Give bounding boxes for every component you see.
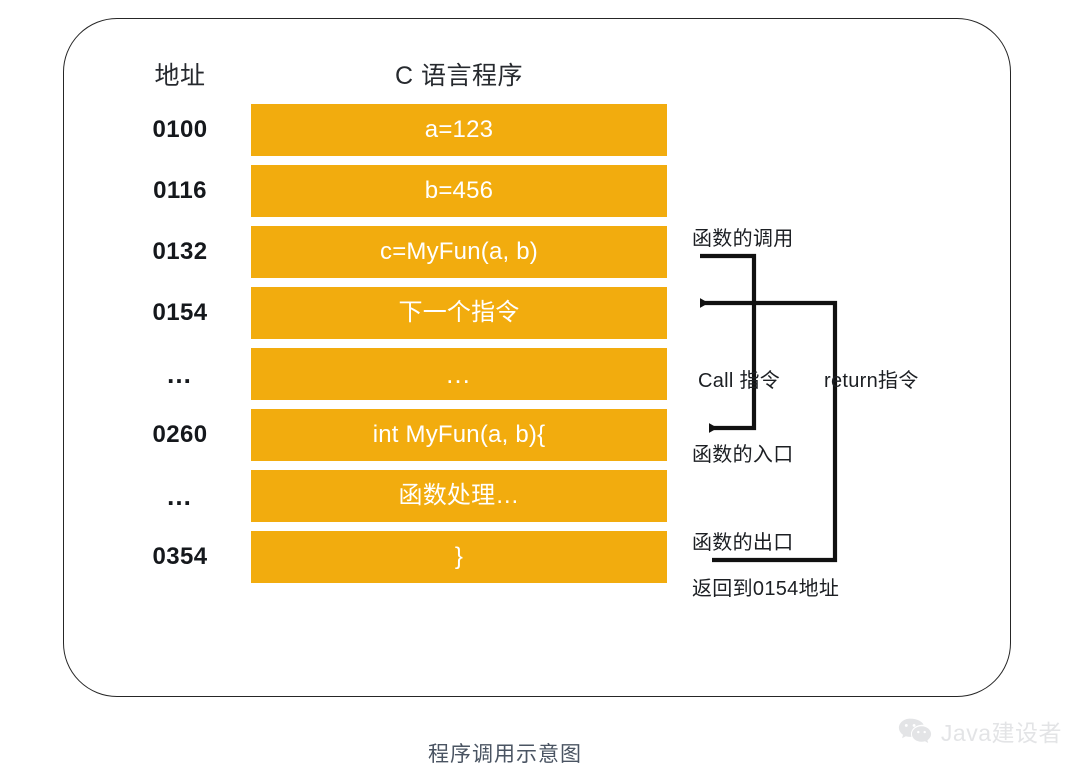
figure-caption: 程序调用示意图 [0, 738, 1010, 768]
memory-address-7: 0354 [130, 531, 230, 583]
memory-address-1: 0116 [130, 165, 230, 217]
memory-address-0: 0100 [130, 104, 230, 156]
wechat-icon [898, 717, 932, 745]
memory-code-bar-2: c=MyFun(a, b) [251, 226, 667, 278]
memory-address-2: 0132 [130, 226, 230, 278]
memory-address-5: 0260 [130, 409, 230, 461]
memory-code-bar-6: 函数处理… [251, 470, 667, 522]
memory-address-4: … [130, 348, 230, 400]
memory-code-bar-1: b=456 [251, 165, 667, 217]
memory-address-3: 0154 [130, 287, 230, 339]
memory-address-6: … [130, 470, 230, 522]
memory-code-bar-4: … [251, 348, 667, 400]
column-header-program: C 语言程序 [251, 56, 667, 92]
memory-code-bar-5: int MyFun(a, b){ [251, 409, 667, 461]
memory-code-bar-0: a=123 [251, 104, 667, 156]
column-header-address: 地址 [130, 56, 230, 92]
memory-code-bar-7: } [251, 531, 667, 583]
watermark: Java建设者 [898, 714, 1062, 748]
watermark-label: Java建设者 [941, 714, 1062, 748]
memory-code-bar-3: 下一个指令 [251, 287, 667, 339]
